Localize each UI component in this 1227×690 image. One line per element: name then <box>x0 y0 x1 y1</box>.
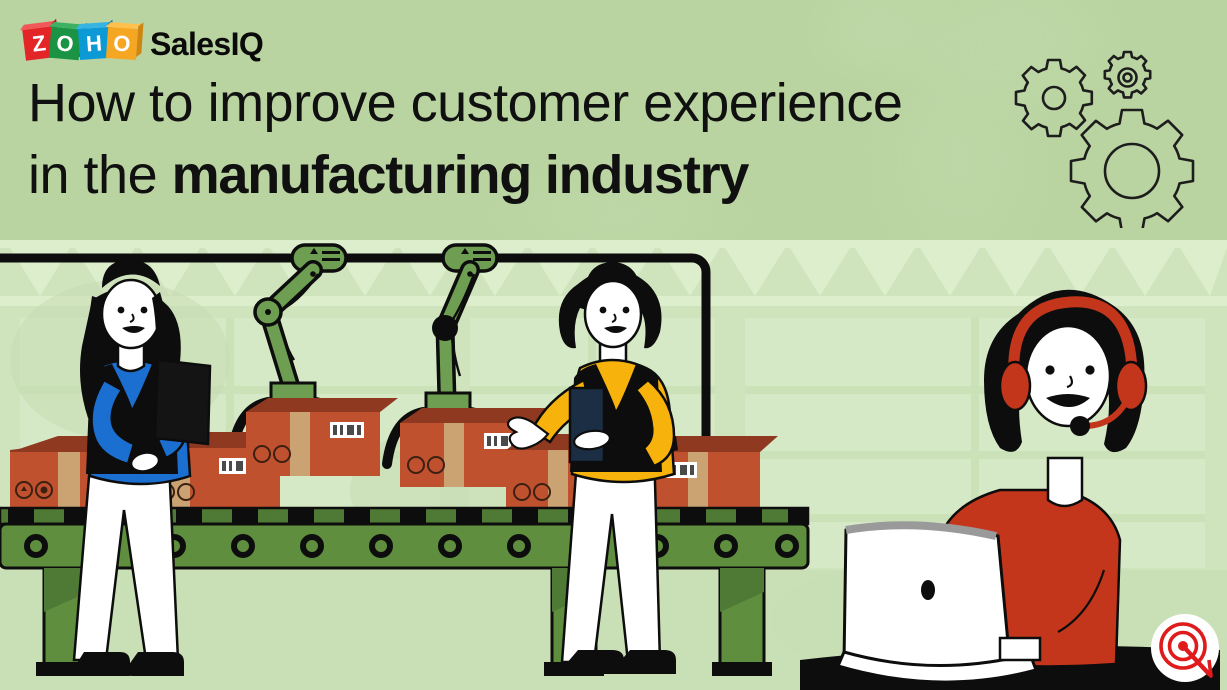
headline-line-1: How to improve customer experience <box>28 76 948 130</box>
gears-decoration <box>1004 48 1219 228</box>
zoho-cube-o1: O <box>49 27 82 60</box>
zoho-cubes-logo: Z O H O <box>24 24 136 64</box>
headline-line-2-bold: manufacturing industry <box>172 145 749 205</box>
factory-scene <box>0 240 1227 690</box>
support-agent-area <box>0 240 1227 690</box>
headline-line-2: in the manufacturing industry <box>28 148 948 202</box>
headline-line-2-regular: in the <box>28 145 172 205</box>
salesiq-target-q-logo <box>1147 614 1223 690</box>
gear-small-icon <box>1105 52 1150 97</box>
banner: Z O H O SalesIQ How to improve customer … <box>0 0 1227 690</box>
product-name: SalesIQ <box>150 26 263 63</box>
laptop-logo <box>921 580 935 600</box>
brand-logo-row: Z O H O SalesIQ <box>24 24 263 64</box>
headline: How to improve customer experience in th… <box>28 76 948 202</box>
zoho-cube-o2: O <box>106 27 138 60</box>
gear-large-icon <box>1071 110 1193 228</box>
gear-medium-icon <box>1016 60 1092 136</box>
